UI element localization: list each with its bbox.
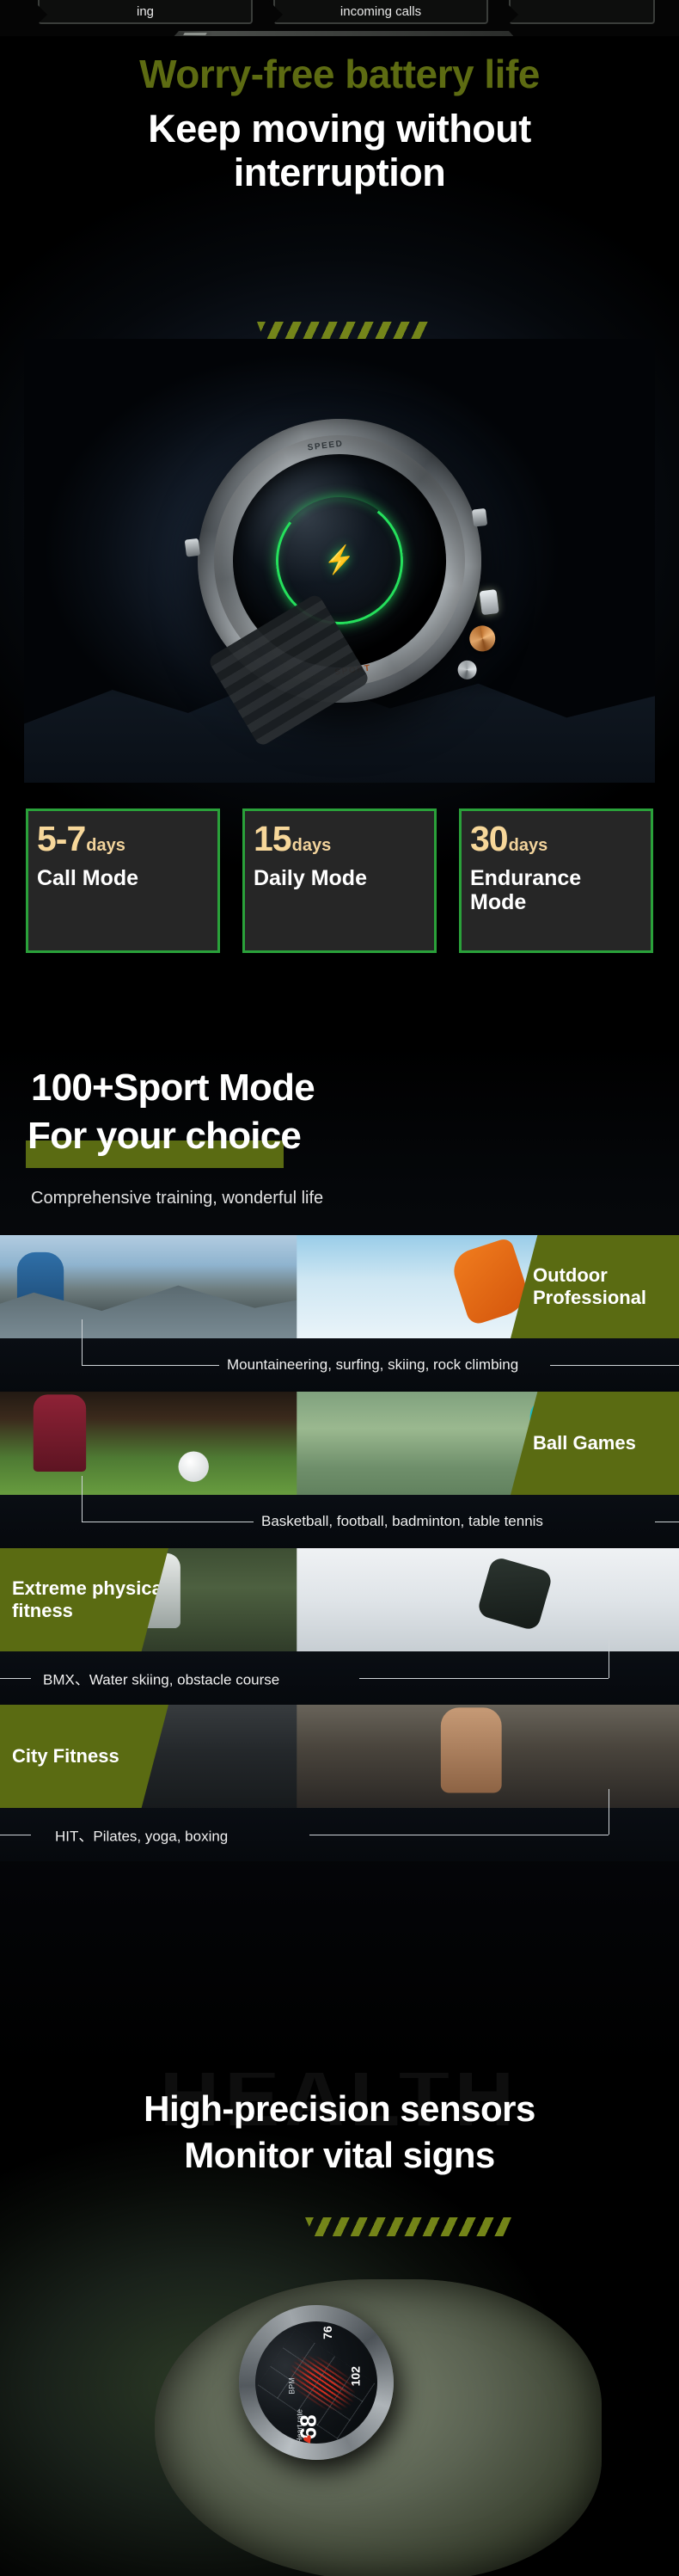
battery-badge-endurance-mode: 30days Endurance Mode	[459, 808, 653, 953]
badge-unit: days	[86, 836, 125, 855]
badge-value-row: 5-7days	[37, 821, 209, 857]
sport-caption-text: Basketball, football, badminton, table t…	[261, 1513, 543, 1530]
sport-caption-extreme: BMX、Water skiing, obstacle course	[0, 1651, 679, 1705]
sport-caption-city-fitness: HIT、Pilates, yoga, boxing	[0, 1808, 679, 1861]
sport-caption-text: BMX、Water skiing, obstacle course	[43, 1668, 279, 1689]
sport-category-tag-ball-games: Ball Games	[511, 1392, 679, 1495]
sport-category-tag-label: Ball Games	[533, 1432, 679, 1454]
caption-line-left	[0, 1835, 31, 1835]
caption-elbow	[609, 1789, 609, 1835]
top-panel-2: incoming calls	[273, 0, 488, 24]
battery-subheadline: Keep moving without interruption	[0, 107, 679, 195]
sensors-headline-line1: High-precision sensors	[0, 2088, 679, 2130]
sport-category-row-ball-games: Ball Games	[0, 1392, 679, 1495]
sport-modes-section: 100+Sport Mode For your choice Comprehen…	[0, 1044, 679, 2073]
caption-line-right	[655, 1522, 679, 1522]
sport-category-tag-city-fitness: City Fitness	[0, 1705, 168, 1808]
battery-headline: Worry-free battery life	[0, 53, 679, 95]
caption-line-left	[82, 1365, 219, 1366]
caption-line-right	[550, 1365, 679, 1366]
diagonal-stripes-decoration	[257, 322, 434, 341]
top-panel-3	[509, 0, 655, 24]
caption-elbow	[82, 1319, 83, 1365]
watch-charging-image: SPEED HEART LIGHT SPORT ⚡	[24, 339, 655, 783]
badge-unit: days	[509, 836, 548, 855]
sport-caption-outdoor: Mountaineering, surfing, skiing, rock cl…	[0, 1338, 679, 1392]
sport-category-row-city-fitness: City Fitness	[0, 1705, 679, 1808]
sport-category-tag-extreme: Extreme physical fitness	[0, 1548, 168, 1651]
badge-value-row: 15days	[254, 821, 425, 857]
watch-side-button-left	[185, 538, 200, 557]
top-cutoff-strip: ing incoming calls	[0, 0, 679, 36]
top-panel-1: ing	[38, 0, 253, 24]
watch-flashlight	[480, 589, 499, 615]
sport-photo-obstacle	[317, 1548, 679, 1651]
sport-headline: 100+Sport Mode	[31, 1067, 315, 1110]
top-panel-2-label: incoming calls	[340, 4, 421, 19]
sport-category-row-extreme: Extreme physical fitness	[0, 1548, 679, 1651]
caption-line-left	[0, 1678, 31, 1679]
sport-category-tag-outdoor: Outdoor Professional	[511, 1235, 679, 1338]
battery-life-section: Worry-free battery life Keep moving with…	[0, 36, 679, 1044]
battery-badge-call-mode: 5-7days Call Mode	[26, 808, 220, 953]
sport-subheadline: For your choice	[28, 1115, 301, 1158]
battery-subheadline-line2: interruption	[0, 151, 679, 194]
sport-category-tag-label: Extreme physical fitness	[12, 1577, 168, 1623]
watch-side-button-right	[472, 508, 487, 527]
caption-line-right	[359, 1678, 609, 1679]
caption-line-left	[82, 1522, 254, 1522]
sport-photo-boxing	[317, 1705, 679, 1808]
badge-label: Endurance Mode	[470, 867, 642, 914]
badge-number: 5-7	[37, 821, 85, 857]
heart-rate-unit: BPM	[287, 2377, 296, 2395]
badge-label: Call Mode	[37, 867, 209, 891]
diagonal-stripes-decoration	[305, 2217, 511, 2236]
lightning-bolt-icon: ⚡	[322, 546, 358, 575]
sensors-watch-photo: Heart rate 68 BPM 76 102 ♥	[0, 2253, 679, 2576]
caption-elbow	[609, 1632, 609, 1678]
bezel-text-speed: SPEED	[307, 439, 344, 452]
badge-number: 30	[470, 821, 508, 857]
battery-badge-daily-mode: 15days Daily Mode	[242, 808, 437, 953]
sport-category-tag-label: City Fitness	[12, 1745, 168, 1768]
sensors-section: HEALTH High-precision sensors Monitor vi…	[0, 2073, 679, 2576]
battery-subheadline-line1: Keep moving without	[0, 107, 679, 151]
badge-value-row: 30days	[470, 821, 642, 857]
sport-category-row-outdoor: Outdoor Professional	[0, 1235, 679, 1338]
badge-number: 15	[254, 821, 291, 857]
heart-rate-low-value: 102	[348, 2366, 362, 2386]
heart-rate-high-value: 76	[321, 2326, 334, 2339]
sport-caption-text: Mountaineering, surfing, skiing, rock cl…	[227, 1356, 518, 1374]
top-panel-1-label: ing	[137, 4, 154, 19]
sport-tagline: Comprehensive training, wonderful life	[31, 1189, 323, 1208]
badge-unit: days	[292, 836, 332, 855]
sensors-headline-line2: Monitor vital signs	[0, 2135, 679, 2176]
battery-mode-badges: 5-7days Call Mode 15days Daily Mode 30da…	[26, 808, 653, 953]
sport-caption-text: HIT、Pilates, yoga, boxing	[55, 1824, 228, 1846]
badge-label: Daily Mode	[254, 867, 425, 891]
sport-caption-ball-games: Basketball, football, badminton, table t…	[0, 1495, 679, 1548]
caption-line-right	[309, 1835, 609, 1835]
caption-elbow	[82, 1476, 83, 1522]
sport-category-tag-label: Outdoor Professional	[533, 1264, 679, 1310]
